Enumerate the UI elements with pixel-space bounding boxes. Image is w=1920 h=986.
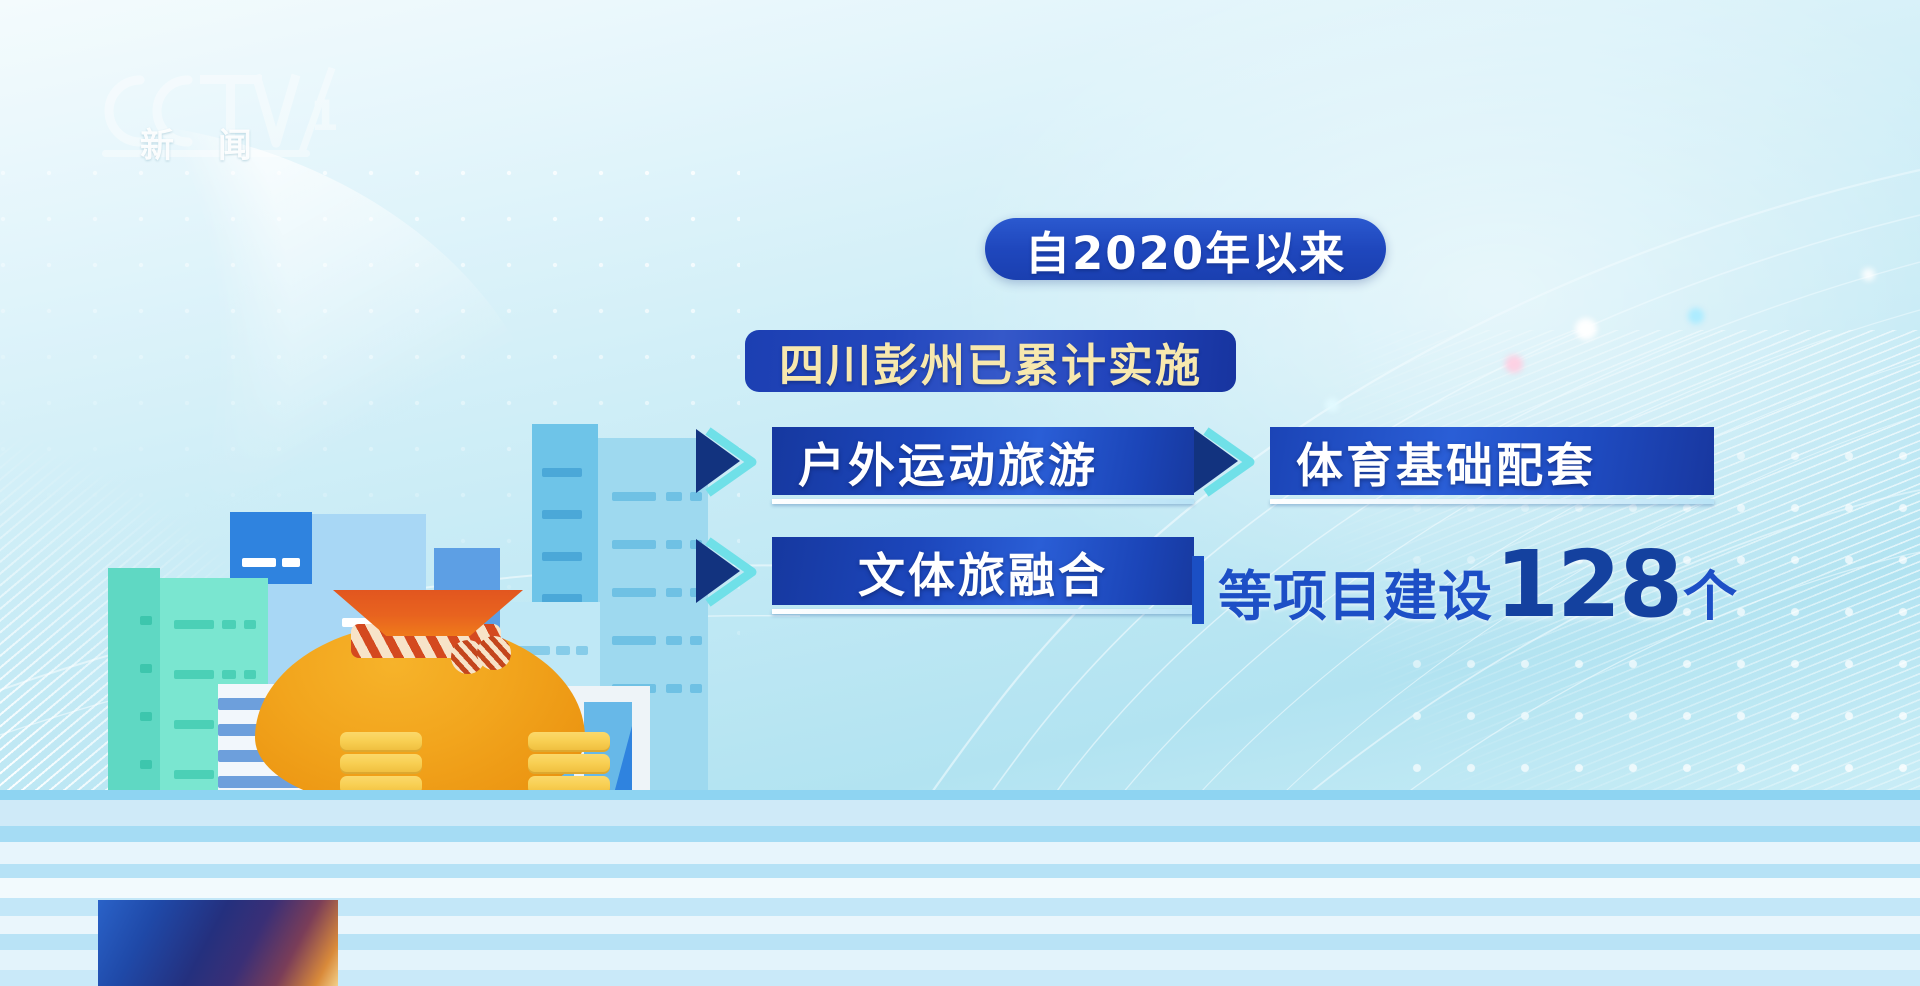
money-bag-icon — [255, 588, 585, 808]
since-banner: 自2020年以来 — [985, 218, 1386, 280]
channel-bug-graphic — [98, 900, 338, 986]
subject-banner: 四川彭州已累计实施 — [745, 330, 1236, 392]
broadcast-graphic-frame: 13 新 闻 — [0, 0, 1920, 986]
project-count-line: 等项目建设 128 个 — [1192, 545, 1737, 624]
bokeh-dot — [1505, 355, 1523, 373]
bokeh-dot — [1688, 308, 1704, 324]
project-count-unit: 个 — [1683, 570, 1737, 624]
bokeh-dot — [1575, 318, 1597, 340]
project-count-number: 128 — [1495, 545, 1681, 624]
building — [108, 568, 160, 816]
bokeh-dot — [1862, 268, 1875, 281]
accent-bar — [1192, 556, 1204, 624]
category-label: 户外运动旅游 — [772, 427, 1194, 495]
chevron-right-icon — [690, 425, 766, 497]
category-row-culture-sports-tourism: 文体旅融合 — [690, 535, 1194, 607]
category-label: 体育基础配套 — [1270, 427, 1714, 495]
bokeh-dot — [1325, 398, 1339, 412]
category-label: 文体旅融合 — [772, 537, 1194, 605]
building-top-block — [230, 512, 312, 584]
logo-subtitle: 新 闻 — [140, 118, 268, 167]
project-count-prefix: 等项目建设 — [1218, 570, 1493, 624]
chevron-right-icon — [690, 535, 766, 607]
chevron-right-icon — [1188, 425, 1264, 497]
bag-knot — [451, 636, 515, 676]
svg-text:13: 13 — [310, 91, 336, 140]
category-row-sports-infrastructure: 体育基础配套 — [1188, 425, 1714, 497]
category-row-outdoor-sports-tourism: 户外运动旅游 — [690, 425, 1194, 497]
